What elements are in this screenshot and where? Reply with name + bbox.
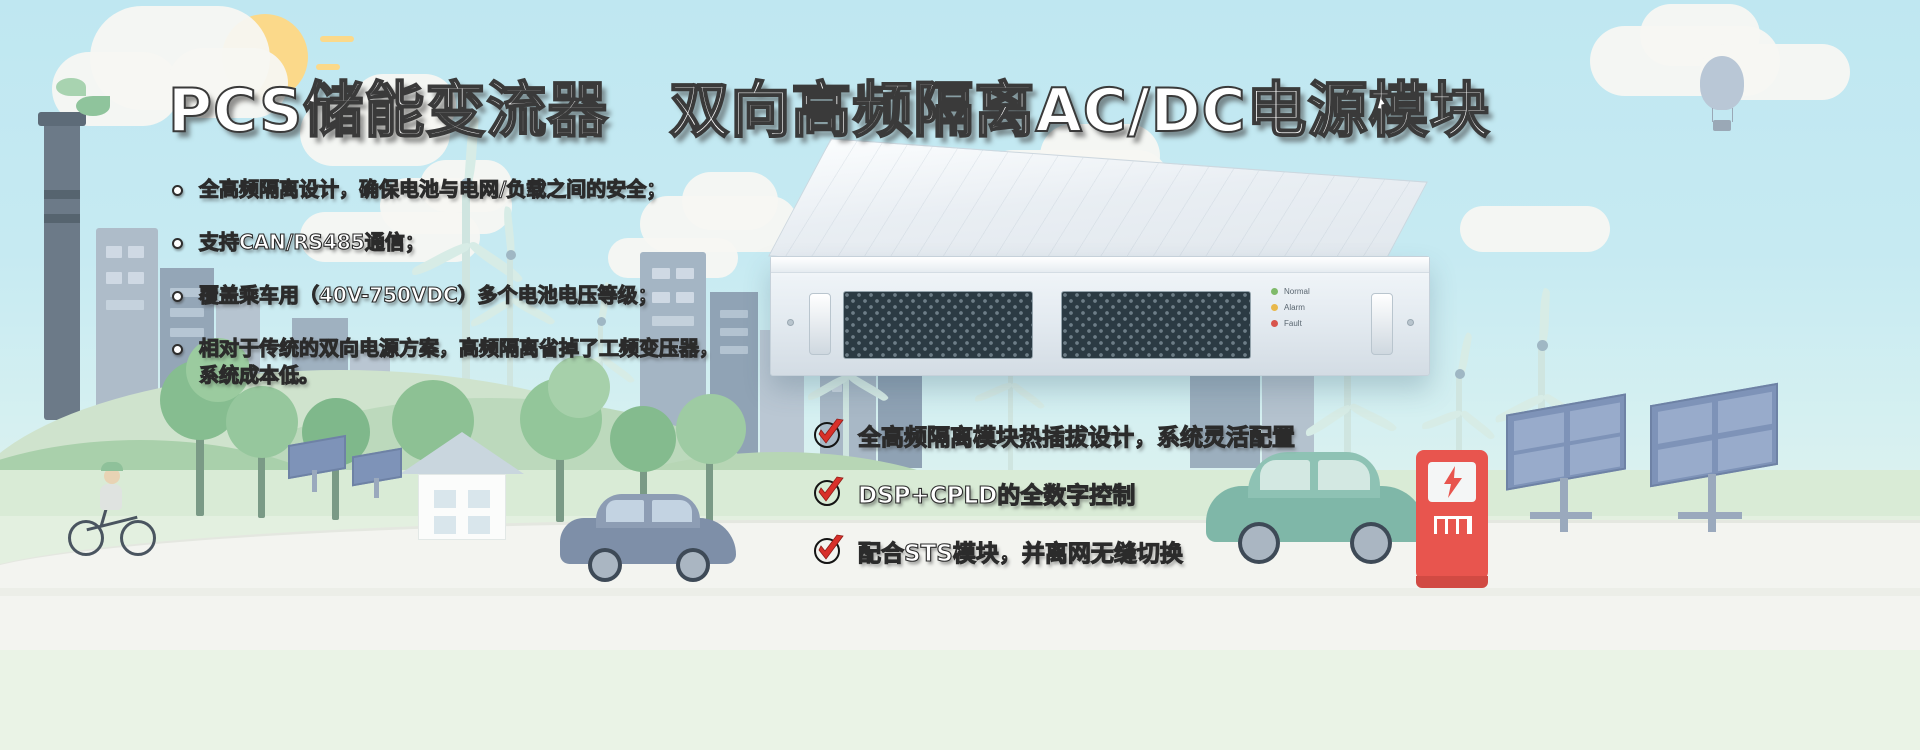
led-row: Normal — [1271, 287, 1310, 296]
list-item: 全高频隔离设计，确保电池与电网/负载之间的安全； — [172, 176, 872, 203]
promotional-banner: Normal Alarm Fault PCS储能变流器 双向高频隔离AC/DC电… — [0, 0, 1920, 750]
bullet-dot-icon — [172, 185, 183, 196]
led-indicator — [1271, 304, 1278, 311]
device-handle-right — [1371, 293, 1393, 355]
list-item: 相对于传统的双向电源方案，高频隔离省掉了工频变压器， 系统成本低。 — [172, 335, 872, 389]
led-indicator — [1271, 288, 1278, 295]
bullet-dot-icon — [172, 238, 183, 249]
led-label: Alarm — [1284, 303, 1305, 312]
check-circle-icon — [812, 418, 846, 452]
bullet-dot-icon — [172, 291, 183, 302]
list-item: 覆盖乘车用（40V-750VDC）多个电池电压等级； — [172, 282, 872, 309]
bullet-dot-icon — [172, 344, 183, 355]
device-led-panel: Normal Alarm Fault — [1271, 287, 1310, 335]
highlight-list: 全高频隔离模块热插拔设计，系统灵活配置 DSP+CPLD的全数字控制 配合STS… — [812, 418, 1295, 592]
title-text: PCS储能变流器 双向高频隔离AC/DC电源模块 — [168, 62, 1491, 149]
device-screw-right — [1407, 319, 1414, 326]
led-label: Fault — [1284, 319, 1302, 328]
check-circle-icon — [812, 534, 846, 568]
list-item: 配合STS模块，并离网无缝切换 — [812, 534, 1295, 568]
feature-text: 全高频隔离设计，确保电池与电网/负载之间的安全； — [199, 176, 666, 203]
feature-list: 全高频隔离设计，确保电池与电网/负载之间的安全； 支持CAN/RS485通信； … — [172, 176, 872, 415]
list-item: 支持CAN/RS485通信； — [172, 229, 872, 256]
highlight-text: 配合STS模块，并离网无缝切换 — [858, 534, 1183, 568]
led-indicator — [1271, 320, 1278, 327]
road-bottom-grass — [0, 650, 1920, 750]
feature-text: 相对于传统的双向电源方案，高频隔离省掉了工频变压器， 系统成本低。 — [199, 335, 719, 389]
device-vent-right — [1061, 291, 1251, 359]
lightning-bolt-icon — [1442, 466, 1464, 498]
check-circle-icon — [812, 476, 846, 510]
list-item: DSP+CPLD的全数字控制 — [812, 476, 1295, 510]
led-row: Fault — [1271, 319, 1310, 328]
feature-text: 覆盖乘车用（40V-750VDC）多个电池电压等级； — [199, 282, 658, 309]
pcs-power-module: Normal Alarm Fault — [770, 160, 1450, 410]
highlight-text: 全高频隔离模块热插拔设计，系统灵活配置 — [858, 418, 1295, 452]
list-item: 全高频隔离模块热插拔设计，系统灵活配置 — [812, 418, 1295, 452]
page-title: PCS储能变流器 双向高频隔离AC/DC电源模块 — [168, 62, 1491, 149]
highlight-text: DSP+CPLD的全数字控制 — [858, 476, 1135, 510]
feature-text: 支持CAN/RS485通信； — [199, 229, 425, 256]
led-row: Alarm — [1271, 303, 1310, 312]
led-label: Normal — [1284, 287, 1310, 296]
